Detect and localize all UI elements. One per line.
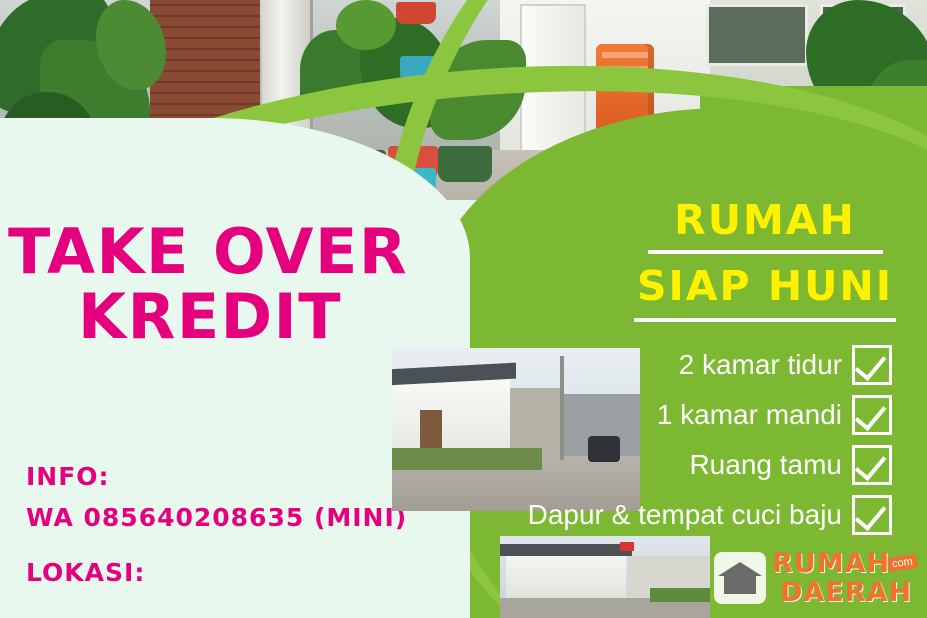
checkbox-checked-icon — [852, 445, 892, 485]
photo-hanging-pot — [400, 56, 442, 82]
photo-flag — [620, 542, 634, 551]
photo-street-row-houses — [500, 536, 710, 618]
house-icon — [714, 552, 766, 604]
headline: TAKE OVER KREDIT — [8, 222, 428, 348]
whatsapp-number: WA 085640208635 (MINI) — [26, 503, 407, 532]
feature-item: 2 kamar tidur — [440, 340, 910, 390]
checkbox-checked-icon — [852, 395, 892, 435]
photo-pot — [438, 146, 492, 182]
badge-line-2: SIAP HUNI — [634, 262, 896, 322]
photo-row-roof — [500, 544, 632, 556]
photo-foliage — [336, 0, 396, 50]
feature-item: Dapur & tempat cuci baju — [440, 490, 910, 540]
checkbox-checked-icon — [852, 495, 892, 535]
feature-label: Dapur & tempat cuci baju — [528, 499, 842, 531]
watermark-logo: RUMAH DAERAH com — [714, 548, 919, 608]
contact-info: INFO: WA 085640208635 (MINI) LOKASI: — [26, 462, 407, 587]
poster-canvas: TAKE OVER KREDIT INFO: WA 085640208635 (… — [0, 0, 927, 618]
photo-row-house-1 — [506, 552, 626, 600]
headline-line-1: TAKE OVER — [8, 215, 408, 288]
location-label: LOKASI: — [26, 558, 407, 587]
photo-hanging-pot — [396, 2, 436, 24]
checkbox-checked-icon — [852, 345, 892, 385]
photo-window-left — [706, 4, 808, 66]
feature-list: 2 kamar tidur 1 kamar mandi Ruang tamu D… — [440, 340, 910, 540]
photo-bush — [650, 588, 710, 602]
headline-line-2: KREDIT — [8, 287, 428, 348]
feature-label: 2 kamar tidur — [679, 349, 842, 381]
watermark-line-2: DAERAH — [772, 579, 912, 606]
feature-item: Ruang tamu — [440, 440, 910, 490]
info-label: INFO: — [26, 462, 407, 491]
badge-rumah-siap-huni: RUMAH SIAP HUNI — [620, 196, 910, 322]
feature-label: 1 kamar mandi — [657, 399, 842, 431]
badge-line-1: RUMAH — [648, 196, 883, 254]
watermark-tld: com — [887, 554, 917, 572]
feature-label: Ruang tamu — [689, 449, 842, 481]
feature-item: 1 kamar mandi — [440, 390, 910, 440]
